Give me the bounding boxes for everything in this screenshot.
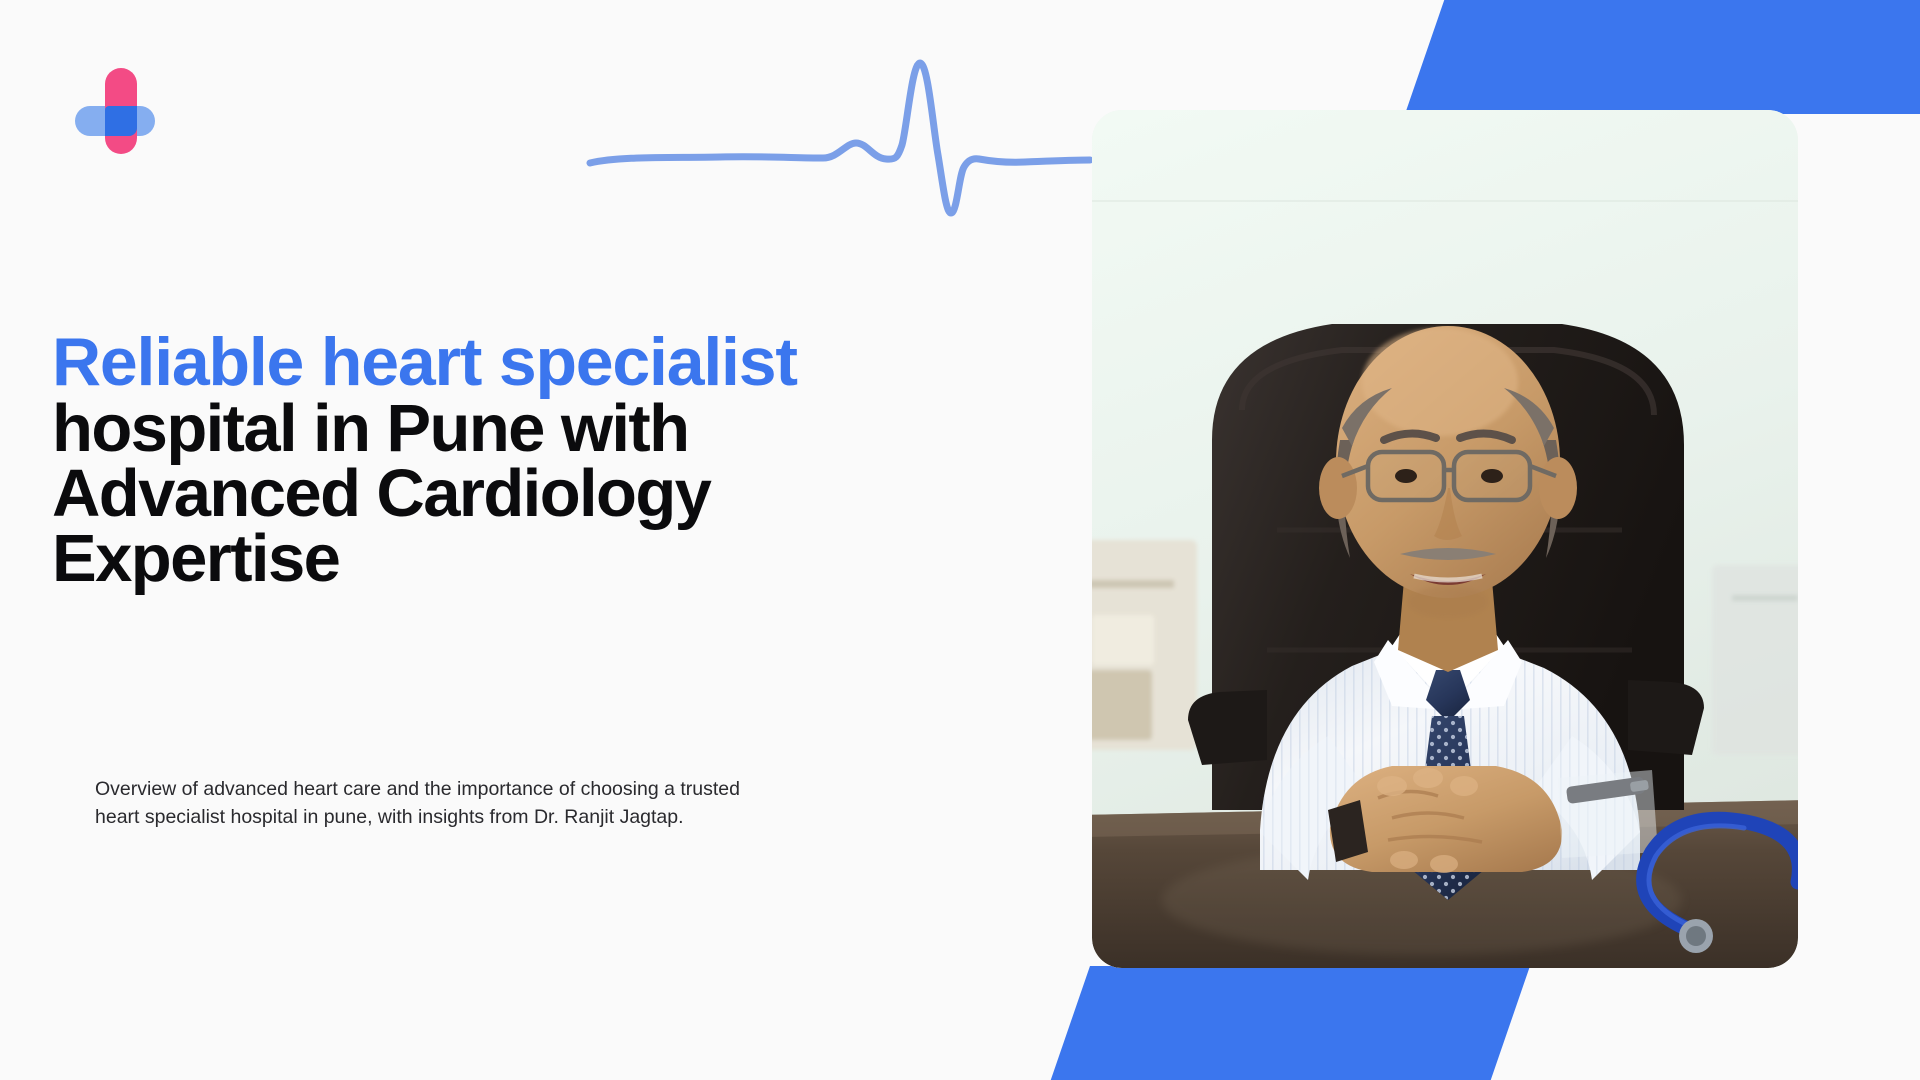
medical-cross-logo[interactable] <box>75 68 155 154</box>
decorative-parallelogram-top-right <box>1405 0 1920 114</box>
hero-description-line-1: Overview of advanced heart care and the … <box>95 775 955 803</box>
headline-line-3: Advanced Cardiology <box>52 461 1052 526</box>
doctor-photo <box>1092 110 1798 968</box>
headline-rest: hospital in Pune with Advanced Cardiolog… <box>52 396 1052 591</box>
decorative-parallelogram-bottom <box>1049 966 1530 1080</box>
page-title: Reliable heart specialist hospital in Pu… <box>52 330 1052 591</box>
doctor-photo-image <box>1092 110 1798 968</box>
logo-overlap-square <box>105 106 137 136</box>
headline-line-1: Reliable heart specialist <box>52 330 1052 396</box>
heartbeat-ekg-line <box>580 45 1100 225</box>
hero-description-line-2: heart specialist hospital in pune, with … <box>95 803 955 831</box>
hero-text-column: Reliable heart specialist hospital in Pu… <box>52 330 1052 591</box>
headline-line-4: Expertise <box>52 526 1052 591</box>
headline-line-2: hospital in Pune with <box>52 396 1052 461</box>
hero-banner: Reliable heart specialist hospital in Pu… <box>0 0 1920 1080</box>
hero-description: Overview of advanced heart care and the … <box>95 775 955 832</box>
